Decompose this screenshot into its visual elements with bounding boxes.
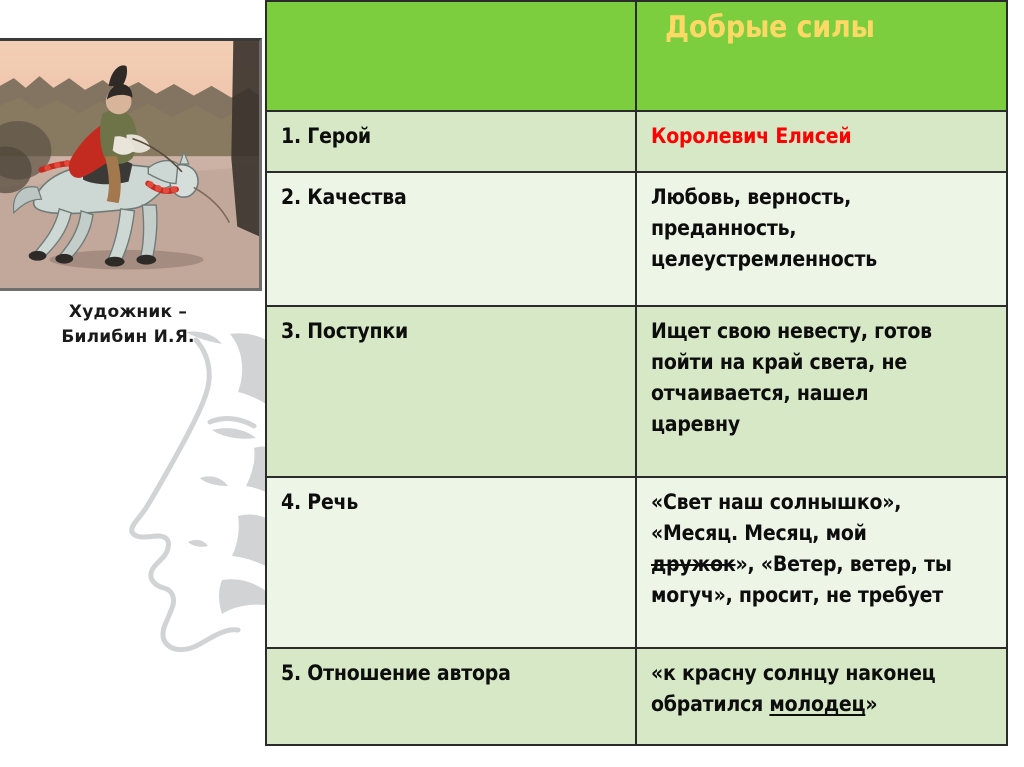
- artist-caption-line1: Художник –: [69, 302, 187, 322]
- deeds-line-4: царевну: [651, 409, 992, 440]
- deeds-line-3: отчаивается, нашел: [651, 378, 992, 409]
- header-cell-good-forces: Добрые силы: [636, 1, 1007, 111]
- row-label-author-attitude: 5. Отношение автора: [266, 648, 636, 745]
- illustration-korolevich-elisey: [0, 38, 262, 291]
- comparison-table-wrapper: Добрые силы 1. Герой Королевич Елисей 2.…: [265, 0, 1006, 746]
- speech-line-1: «Свет наш солнышко»,: [651, 487, 992, 518]
- attitude-line-1: «к красну солнцу наконец: [651, 658, 992, 689]
- table-header-row: Добрые силы: [266, 1, 1007, 111]
- table-row: 3. Поступки Ищет свою невесту, готов пой…: [266, 306, 1007, 477]
- row-label-speech: 4. Речь: [266, 477, 636, 648]
- table-row: 1. Герой Королевич Елисей: [266, 111, 1007, 172]
- illustration-artwork: [0, 41, 259, 288]
- row-value-author-attitude: «к красну солнцу наконец обратился молод…: [636, 648, 1007, 745]
- artist-caption: Художник – Билибин И.Я.: [0, 300, 256, 350]
- deeds-line-2: пойти на край света, не: [651, 347, 992, 378]
- pushkin-silhouette-icon: [60, 330, 290, 730]
- row-label-hero: 1. Герой: [266, 111, 636, 172]
- table-row: 5. Отношение автора «к красну солнцу нак…: [266, 648, 1007, 745]
- speech-line-3: дружок», «Ветер, ветер, ты: [651, 549, 992, 580]
- row-value-qualities: Любовь, верность, преданность, целеустре…: [636, 172, 1007, 306]
- left-panel: Художник – Билибин И.Я.: [0, 0, 264, 767]
- row-label-deeds: 3. Поступки: [266, 306, 636, 477]
- attitude-underlined-word: молодец: [769, 692, 865, 716]
- table-row: 4. Речь «Свет наш солнышко», «Месяц. Мес…: [266, 477, 1007, 648]
- deeds-line-1: Ищет свою невесту, готов: [651, 316, 992, 347]
- header-title-text: Добрые силы: [651, 11, 992, 57]
- attitude-line-2-tail: »: [865, 692, 877, 716]
- pushkin-profile-watermark: [60, 330, 290, 730]
- qualities-line-1: Любовь, верность,: [651, 182, 992, 213]
- qualities-line-2: преданность,: [651, 213, 992, 244]
- row-value-hero: Королевич Елисей: [636, 111, 1007, 172]
- attitude-line-2-lead: обратился: [651, 692, 769, 716]
- qualities-line-3: целеустремленность: [651, 244, 992, 275]
- row-label-qualities: 2. Качества: [266, 172, 636, 306]
- speech-strikethrough-word: дружок: [651, 552, 736, 576]
- comparison-table: Добрые силы 1. Герой Королевич Елисей 2.…: [265, 0, 1008, 746]
- artist-caption-line2: Билибин И.Я.: [61, 327, 194, 347]
- attitude-line-2: обратился молодец»: [651, 689, 992, 720]
- row-value-speech: «Свет наш солнышко», «Месяц. Месяц, мой …: [636, 477, 1007, 648]
- speech-line-2: «Месяц. Месяц, мой: [651, 518, 992, 549]
- speech-line-4: могуч», просит, не требует: [651, 580, 992, 611]
- hero-name-text: Королевич Елисей: [651, 124, 851, 148]
- header-cell-empty: [266, 1, 636, 111]
- row-value-deeds: Ищет свою невесту, готов пойти на край с…: [636, 306, 1007, 477]
- table-row: 2. Качества Любовь, верность, преданност…: [266, 172, 1007, 306]
- speech-line-3-tail: », «Ветер, ветер, ты: [736, 552, 952, 576]
